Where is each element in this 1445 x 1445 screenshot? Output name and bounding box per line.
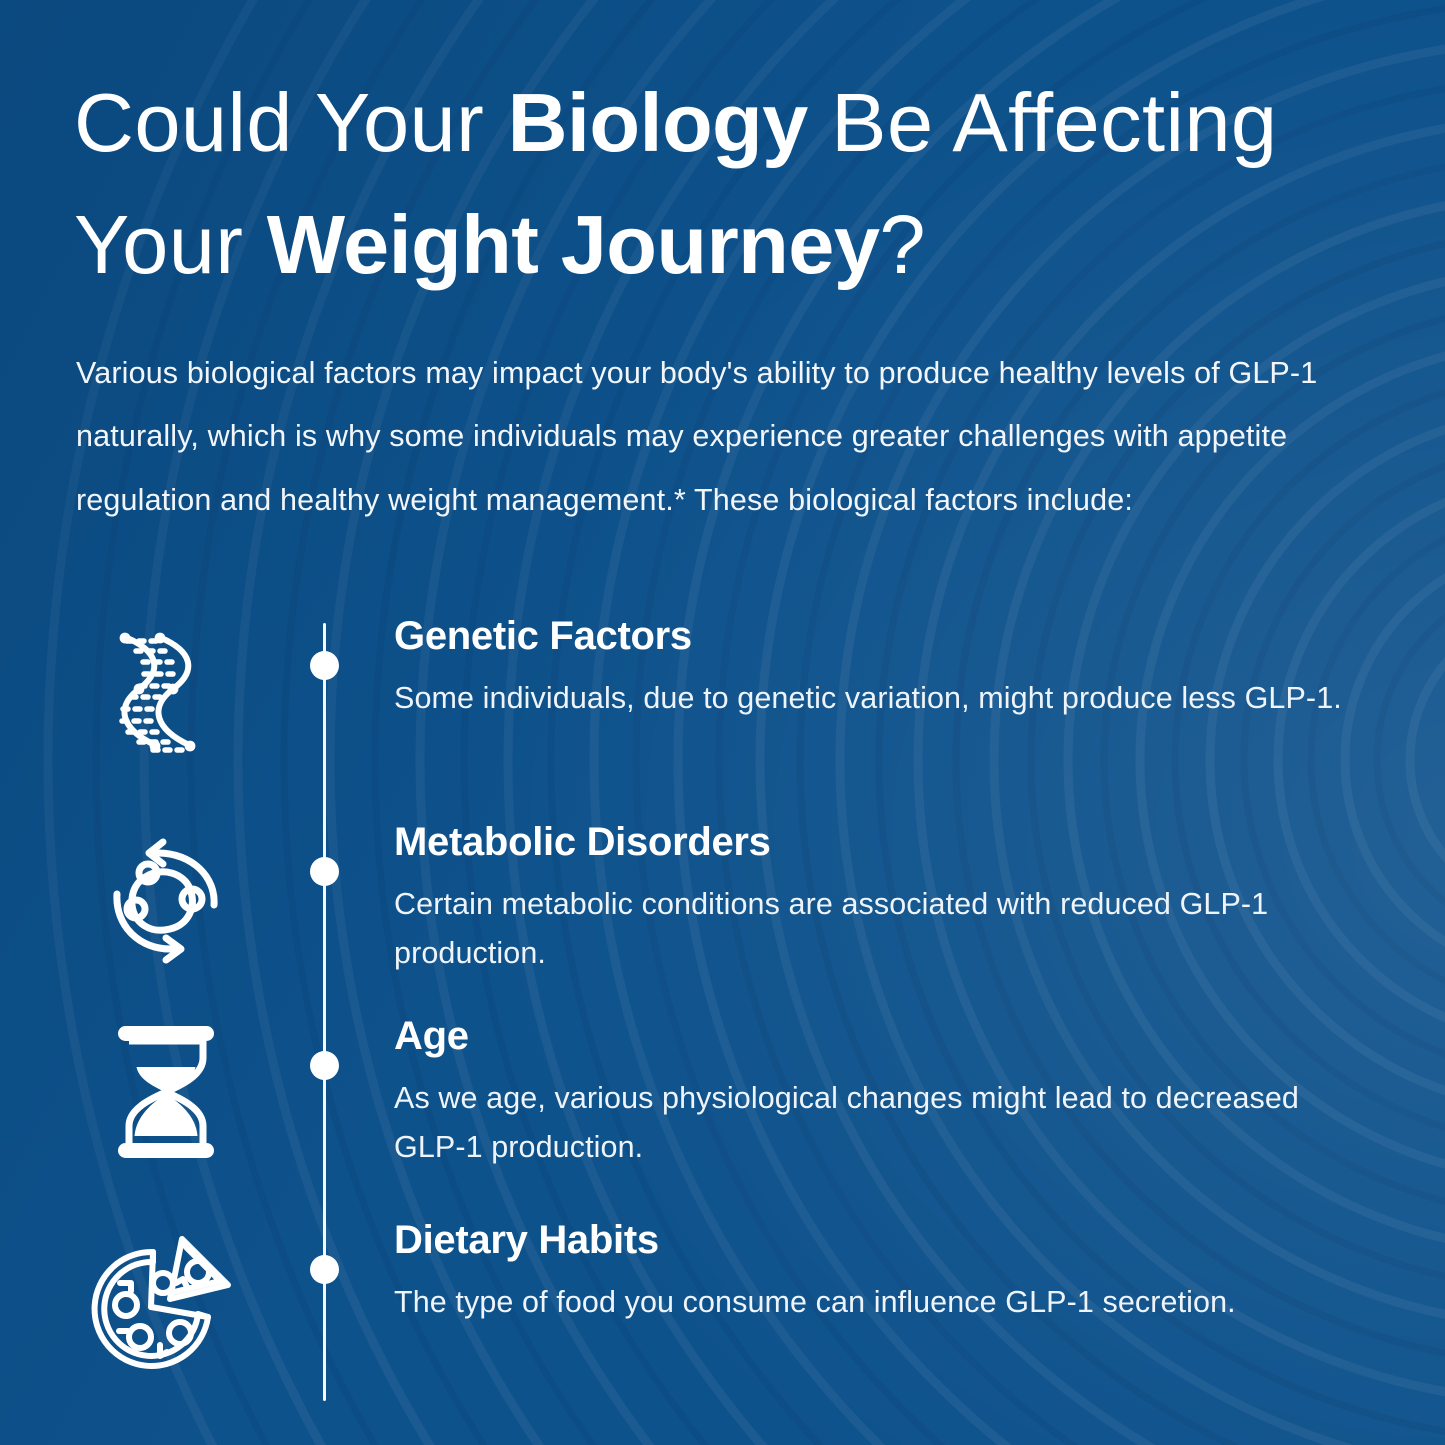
list-item-text: Dietary Habits The type of food you cons… (394, 1216, 1374, 1327)
list-item-title: Dietary Habits (394, 1216, 1374, 1264)
intro-paragraph: Various biological factors may impact yo… (76, 342, 1374, 532)
list-item-title: Genetic Factors (394, 612, 1374, 660)
list-item-description: Certain metabolic conditions are associa… (394, 880, 1354, 979)
timeline-dot (310, 651, 339, 680)
headline-emphasis-weight-journey: Weight Journey (267, 198, 880, 291)
metabolism-cycle-icon (88, 818, 244, 978)
list-item-text: Metabolic Disorders Certain metabolic co… (394, 818, 1374, 979)
headline-segment-3: Your (74, 198, 267, 291)
list-item-text: Genetic Factors Some individuals, due to… (394, 612, 1374, 723)
list-item-description: The type of food you consume can influen… (394, 1278, 1354, 1327)
headline-segment-1: Could Your (74, 76, 508, 169)
dna-icon (88, 612, 244, 772)
headline-segment-4: ? (879, 198, 926, 291)
pizza-slice-icon (88, 1216, 244, 1376)
list-item-text: Age As we age, various physiological cha… (394, 1012, 1374, 1173)
page-title: Could Your Biology Be Affecting Your Wei… (74, 62, 1394, 306)
list-item-description: As we age, various physiological changes… (394, 1074, 1354, 1173)
timeline-dot (310, 857, 339, 886)
hourglass-icon (88, 1012, 244, 1172)
list-item-description: Some individuals, due to genetic variati… (394, 674, 1354, 723)
list-item-title: Age (394, 1012, 1374, 1060)
headline-segment-2: Be Affecting (808, 76, 1278, 169)
timeline-dot (310, 1051, 339, 1080)
timeline-dot (310, 1255, 339, 1284)
infographic-canvas: Could Your Biology Be Affecting Your Wei… (0, 0, 1445, 1445)
headline-emphasis-biology: Biology (508, 76, 808, 169)
timeline-rail (323, 623, 326, 1401)
list-item-title: Metabolic Disorders (394, 818, 1374, 866)
